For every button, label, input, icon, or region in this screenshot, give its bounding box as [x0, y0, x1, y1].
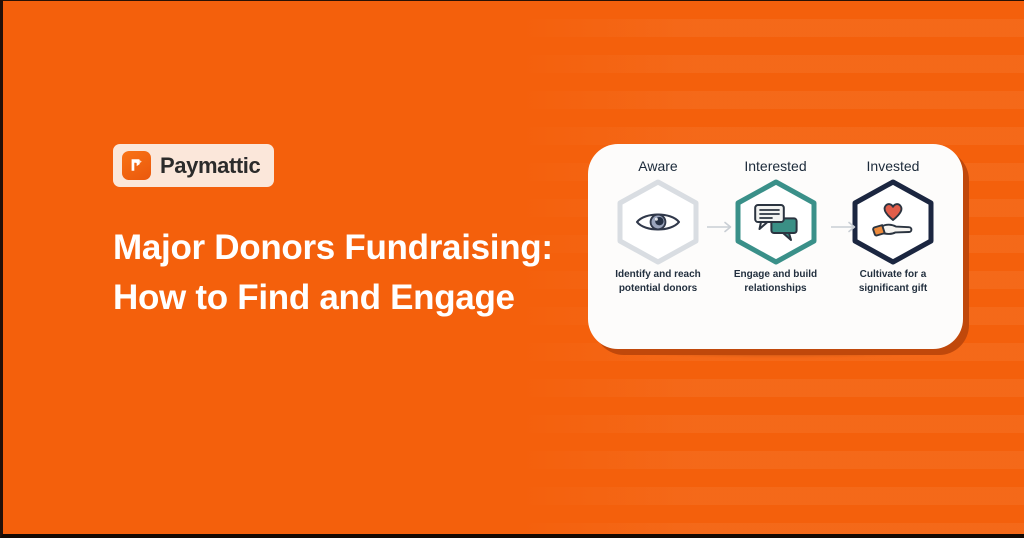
funnel-card-wrapper: Aware Identify and reach potent [588, 144, 963, 352]
stage-hexagon [612, 178, 704, 266]
stage-caption: Identify and reach potential donors [608, 268, 708, 295]
donor-funnel-card: Aware Identify and reach potent [588, 144, 963, 349]
stage-title: Interested [744, 158, 806, 174]
funnel-stage-aware: Aware Identify and reach potent [606, 158, 710, 295]
stage-title: Invested [867, 158, 920, 174]
chat-bubbles-icon [752, 200, 800, 244]
page-title: Major Donors Fundraising: How to Find an… [113, 223, 558, 322]
arrow-right-icon [707, 220, 735, 232]
stage-hexagon [847, 178, 939, 266]
stage-title: Aware [638, 158, 677, 174]
funnel-stage-interested: Interested [724, 158, 828, 295]
eye-icon [634, 200, 682, 244]
promo-banner: Paymattic Major Donors Fundraising: How … [0, 0, 1024, 538]
arrow-right-icon [831, 220, 859, 232]
heart-in-hand-icon [869, 200, 917, 244]
brand-name: Paymattic [160, 153, 260, 179]
stage-caption: Cultivate for a significant gift [843, 268, 943, 295]
paymattic-logo-icon [122, 151, 151, 180]
stage-hexagon [730, 178, 822, 266]
left-content: Paymattic Major Donors Fundraising: How … [113, 144, 583, 322]
brand-logo-badge: Paymattic [113, 144, 274, 187]
stage-caption: Engage and build relationships [726, 268, 826, 295]
